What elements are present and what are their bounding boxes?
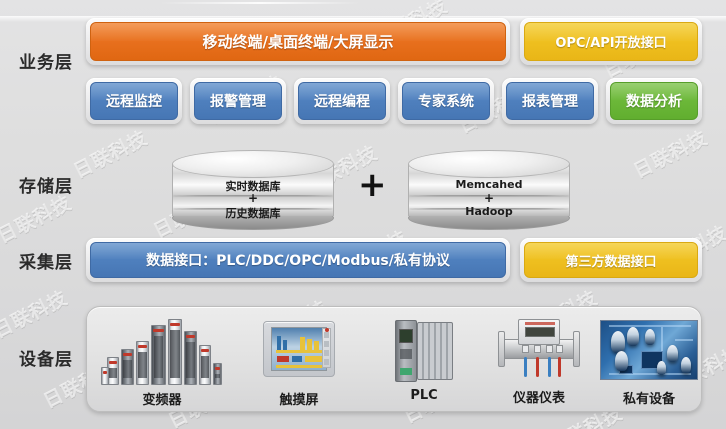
database-operator: +	[408, 191, 570, 205]
device-item-vfd[interactable]: 变频器	[97, 313, 227, 408]
plc-controller-icon	[395, 320, 453, 386]
business-button-report-management[interactable]: 报表管理	[502, 78, 598, 124]
layer-label-business: 业务层	[8, 48, 84, 73]
watermark-text: 日联科技	[0, 283, 72, 343]
button-label: 报表管理	[506, 82, 594, 120]
device-label: 变频器	[97, 389, 227, 408]
watermark-text: 日联科技	[0, 188, 76, 248]
button-label: 远程编程	[298, 82, 386, 120]
device-label: 触摸屏	[239, 389, 359, 408]
database-cylinder-memcached-hadoop: Memcahed + Hadoop	[408, 150, 570, 230]
device-item-hmi[interactable]: 触摸屏	[239, 317, 359, 408]
business-button-expert-system[interactable]: 专家系统	[398, 78, 494, 124]
device-label: PLC	[369, 388, 479, 403]
device-item-private[interactable]: 私有设备	[599, 317, 699, 407]
business-banner-panel[interactable]: 移动终端/桌面终端/大屏显示	[86, 18, 510, 65]
device-item-plc[interactable]: PLC	[369, 317, 479, 403]
architecture-diagram: 日联科技 日联科技 日联科技 日联科技 日联科技 日联科技 日联科技 日联科技 …	[0, 0, 726, 429]
device-item-meter[interactable]: 仪器仪表	[479, 317, 599, 406]
third-party-interface-panel[interactable]: 第三方数据接口	[520, 238, 702, 282]
device-label: 私有设备	[599, 388, 699, 407]
storage-plus-operator: +	[358, 168, 387, 202]
database-line-1: Memcahed	[408, 178, 570, 191]
flow-meter-icon	[496, 319, 582, 385]
business-button-remote-programming[interactable]: 远程编程	[294, 78, 390, 124]
data-interface-panel[interactable]: 数据接口：PLC/DDC/OPC/Modbus/私有协议	[86, 238, 510, 282]
button-label: 数据分析	[610, 82, 698, 120]
business-banner-label: 移动终端/桌面终端/大屏显示	[90, 22, 506, 61]
button-label: 专家系统	[402, 82, 490, 120]
database-operator: +	[172, 191, 334, 205]
business-button-data-analysis[interactable]: 数据分析	[606, 78, 702, 124]
database-line-2: Hadoop	[408, 205, 570, 218]
open-interface-panel[interactable]: OPC/API开放接口	[520, 18, 702, 65]
hmi-touchscreen-icon	[260, 321, 338, 387]
layer-label-storage: 存储层	[8, 172, 84, 197]
third-party-interface-label: 第三方数据接口	[524, 242, 698, 278]
circuit-board-icon	[600, 320, 698, 386]
layer-label-device: 设备层	[8, 345, 84, 370]
variable-frequency-drive-icon	[101, 313, 223, 387]
business-button-remote-monitor[interactable]: 远程监控	[86, 78, 182, 124]
business-button-alarm-management[interactable]: 报警管理	[190, 78, 286, 124]
data-interface-label: 数据接口：PLC/DDC/OPC/Modbus/私有协议	[90, 242, 506, 278]
top-hairline	[160, 2, 360, 4]
database-cylinder-realtime-history: 实时数据库 + 历史数据库	[172, 150, 334, 230]
layer-label-collect: 采集层	[8, 248, 84, 273]
button-label: 远程监控	[90, 82, 178, 120]
database-line-2: 历史数据库	[172, 205, 334, 221]
device-layer-panel: 变频器	[86, 306, 702, 412]
watermark-text: 日联科技	[628, 123, 712, 183]
open-interface-label: OPC/API开放接口	[524, 22, 698, 61]
button-label: 报警管理	[194, 82, 282, 120]
device-label: 仪器仪表	[479, 387, 599, 406]
